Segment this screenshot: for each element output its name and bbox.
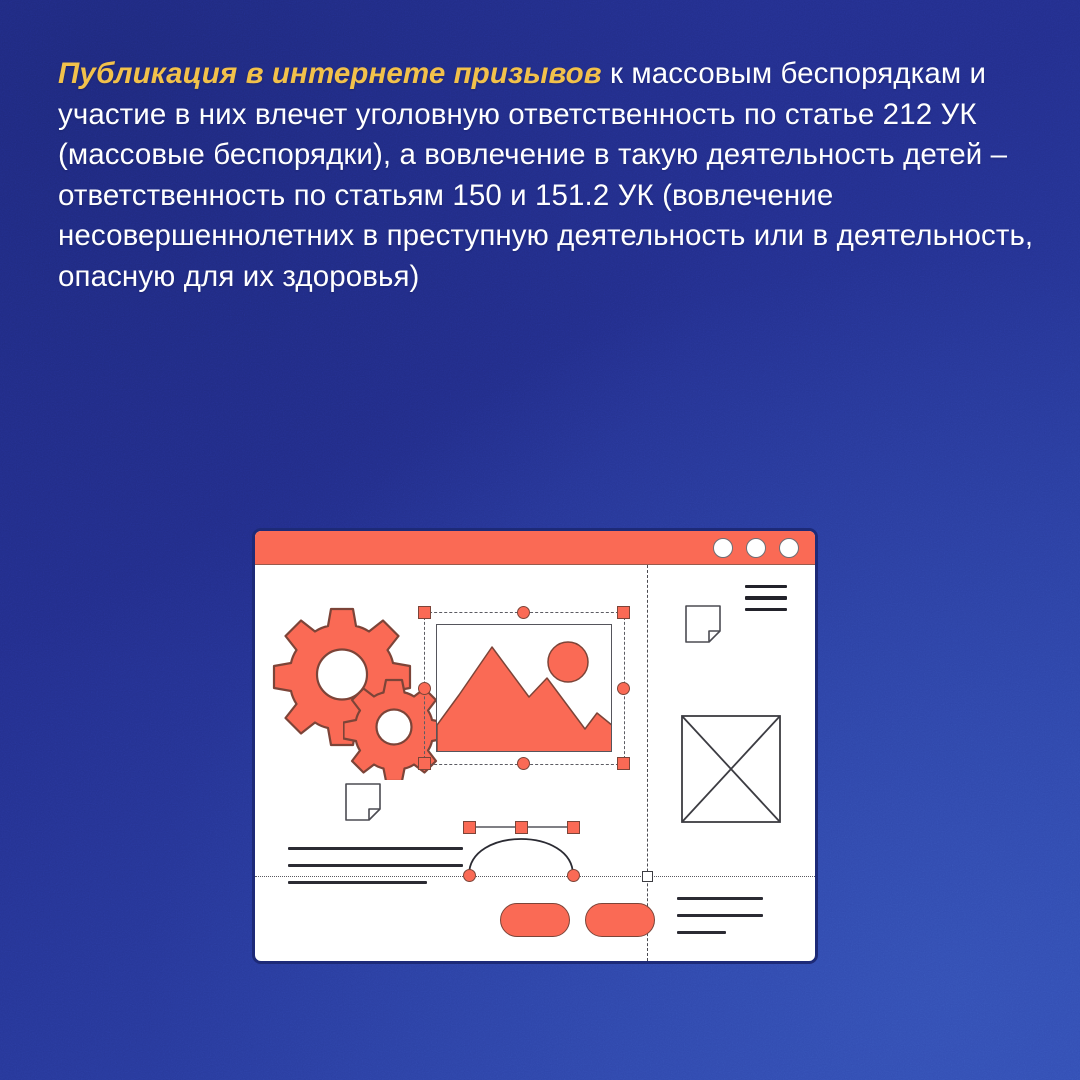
bezier-anchor-right[interactable] xyxy=(567,869,580,882)
resize-handle-bottom-right[interactable] xyxy=(617,757,630,770)
resize-handle-middle-left[interactable] xyxy=(418,682,431,695)
hamburger-menu-icon[interactable] xyxy=(745,585,787,619)
window-canvas xyxy=(255,565,815,961)
resize-handle-top-center[interactable] xyxy=(517,606,530,619)
browser-window-illustration xyxy=(252,528,818,964)
text-line xyxy=(288,864,463,867)
headline-highlight: Публикация в интернете призывов xyxy=(58,57,602,90)
headline-text: Публикация в интернете призывов к массов… xyxy=(58,54,1038,298)
text-line xyxy=(677,931,726,934)
page-icon xyxy=(685,605,721,643)
resize-handle-top-right[interactable] xyxy=(617,606,630,619)
guide-intersection-node[interactable] xyxy=(642,871,653,882)
hamburger-bar xyxy=(745,585,787,588)
resize-handle-bottom-left[interactable] xyxy=(418,757,431,770)
headline-body: к массовым беспорядкам и участие в них в… xyxy=(58,57,1033,293)
bezier-control-center[interactable] xyxy=(515,821,528,834)
selected-image-object[interactable] xyxy=(418,606,630,771)
bezier-control-right[interactable] xyxy=(567,821,580,834)
bezier-anchor-left[interactable] xyxy=(463,869,476,882)
hamburger-bar xyxy=(745,596,787,599)
resize-handle-bottom-center[interactable] xyxy=(517,757,530,770)
text-line xyxy=(288,847,463,850)
vertical-guide xyxy=(647,565,648,961)
window-button-1[interactable] xyxy=(713,538,733,558)
window-button-3[interactable] xyxy=(779,538,799,558)
text-line xyxy=(288,881,427,884)
image-placeholder-icon xyxy=(436,624,612,752)
resize-handle-top-left[interactable] xyxy=(418,606,431,619)
bezier-curve-icon[interactable] xyxy=(461,821,581,888)
slide-root: Публикация в интернете призывов к массов… xyxy=(0,0,1080,1080)
window-button-2[interactable] xyxy=(746,538,766,558)
window-title-bar xyxy=(255,531,815,565)
text-line xyxy=(677,897,763,900)
page-icon xyxy=(345,783,381,821)
image-placeholder-icon xyxy=(681,715,781,823)
text-line xyxy=(677,914,763,917)
bezier-control-left[interactable] xyxy=(463,821,476,834)
secondary-pill-button[interactable] xyxy=(585,903,655,937)
primary-pill-button[interactable] xyxy=(500,903,570,937)
hamburger-bar xyxy=(745,608,787,611)
resize-handle-middle-right[interactable] xyxy=(617,682,630,695)
